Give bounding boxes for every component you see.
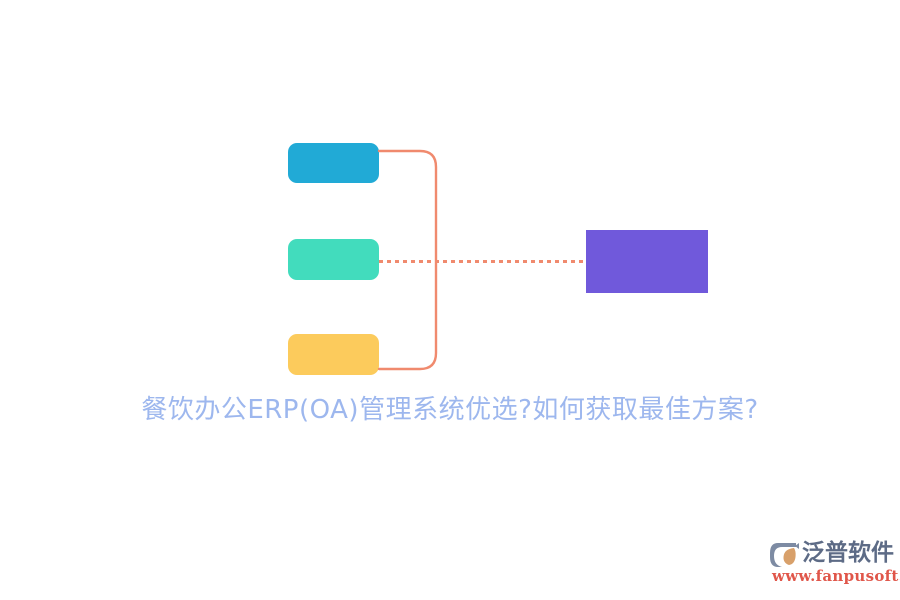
diagram-node-green[interactable] — [288, 239, 379, 280]
diagram-node-yellow[interactable] — [288, 334, 379, 375]
brand-name: 泛普软件 — [802, 538, 894, 568]
brand-mark-icon — [768, 540, 802, 570]
diagram-node-blue[interactable] — [288, 143, 379, 183]
page-headline: 餐饮办公ERP(OA)管理系统优选?如何获取最佳方案? — [0, 390, 900, 430]
diagram-node-purple[interactable] — [586, 230, 708, 293]
brand-url[interactable]: www.fanpusoft.com — [772, 567, 900, 586]
diagram-canvas: 餐饮办公ERP(OA)管理系统优选?如何获取最佳方案? 泛普软件 www.fan… — [0, 0, 900, 600]
connector-dotted-line — [379, 260, 587, 263]
logo-watermark[interactable]: 泛普软件 www.fanpusoft.com — [768, 538, 894, 588]
